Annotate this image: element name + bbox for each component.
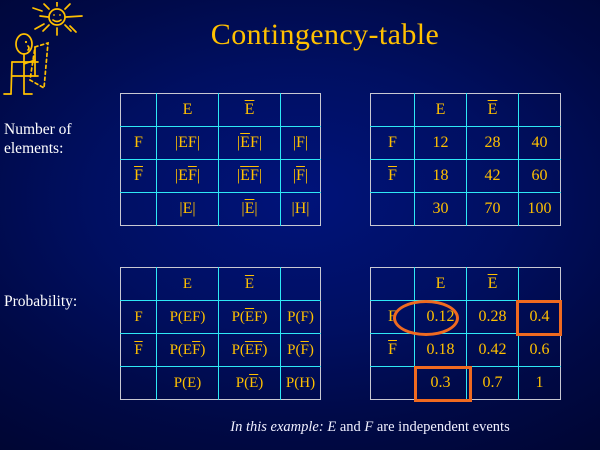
cell-count-ebar-total: 70 [467, 193, 519, 226]
row-label-f-bar: F [371, 334, 415, 367]
row-label-f-bar: F [371, 160, 415, 193]
table-row: F |EF| |EF| |F| [121, 160, 321, 193]
row-label-total [121, 193, 157, 226]
table-row: F |EF| |EF| |F| [121, 127, 321, 160]
cell-prob-f-total: 0.4 [519, 301, 561, 334]
cell-prob-ebar-fbar: 0.42 [467, 334, 519, 367]
cell-p-f: P(F) [281, 301, 321, 334]
cell-prob-fbar-total: 0.6 [519, 334, 561, 367]
table-total-row: P(E) P(E) P(H) [121, 367, 321, 400]
cell-p-ebar: P(E) [219, 367, 281, 400]
person-with-paper-and-sun-icon [2, 2, 106, 96]
column-header-e: E [157, 268, 219, 301]
table-row: F P(EF) P(EF) P(F) [121, 334, 321, 367]
corner-cell [371, 94, 415, 127]
label-probability: Probability: [4, 292, 116, 311]
cell-prob-ebar-f: 0.28 [467, 301, 519, 334]
row-label-f: F [121, 301, 157, 334]
cell-p-ebar-fbar: P(EF) [219, 334, 281, 367]
cell-ebar-total: |E| [219, 193, 281, 226]
cell-prob-e-total: 0.3 [415, 367, 467, 400]
cell-prob-e-fbar: 0.18 [415, 334, 467, 367]
column-header-e: E [415, 94, 467, 127]
table-row: F 12 28 40 [371, 127, 561, 160]
row-label-f: F [371, 127, 415, 160]
row-label-f-bar: F [121, 160, 157, 193]
table-counts-numeric: E E F 12 28 40 F 18 42 60 30 70 100 [370, 93, 561, 226]
cell-count-ebar-fbar: 42 [467, 160, 519, 193]
table-row: F P(EF) P(EF) P(F) [121, 301, 321, 334]
table-header-row: E E [121, 94, 321, 127]
cell-e-fbar: |EF| [157, 160, 219, 193]
cell-grand-total: |H| [281, 193, 321, 226]
cell-f-total: |F| [281, 127, 321, 160]
column-header-total [281, 94, 321, 127]
footnote-tail: are independent events [377, 419, 510, 435]
table-total-row: 30 70 100 [371, 193, 561, 226]
column-header-total [519, 268, 561, 301]
corner-cell [371, 268, 415, 301]
cell-count-f-total: 40 [519, 127, 561, 160]
corner-cell [121, 94, 157, 127]
cell-count-e-total: 30 [415, 193, 467, 226]
cell-count-grand-total: 100 [519, 193, 561, 226]
column-header-e-bar: E [467, 268, 519, 301]
slide-canvas: Contingency-table Number of elements: Pr… [0, 0, 600, 450]
cell-ebar-fbar: |EF| [219, 160, 281, 193]
column-header-e-bar: E [467, 94, 519, 127]
cell-p-e: P(E) [157, 367, 219, 400]
footnote-event-f: F [364, 419, 373, 435]
cell-ef: |EF| [157, 127, 219, 160]
column-header-e: E [415, 268, 467, 301]
cell-count-fbar-total: 60 [519, 160, 561, 193]
table-probability-symbolic: E E F P(EF) P(EF) P(F) F P(EF) P(EF) P(F… [120, 267, 321, 400]
row-label-total [121, 367, 157, 400]
cell-p-ef: P(EF) [157, 301, 219, 334]
table-total-row: |E| |E| |H| [121, 193, 321, 226]
row-label-f: F [371, 301, 415, 334]
column-header-e-bar: E [219, 268, 281, 301]
table-row: F 0.12 0.28 0.4 [371, 301, 561, 334]
table-header-row: E E [371, 268, 561, 301]
cell-fbar-total: |F| [281, 160, 321, 193]
page-title: Contingency-table [110, 18, 540, 52]
column-header-total [281, 268, 321, 301]
cell-p-ebar-f: P(EF) [219, 301, 281, 334]
cell-e-total: |E| [157, 193, 219, 226]
table-counts-symbolic: E E F |EF| |EF| |F| F |EF| |EF| |F| |E| … [120, 93, 321, 226]
table-header-row: E E [121, 268, 321, 301]
table-probability-numeric: E E F 0.12 0.28 0.4 F 0.18 0.42 0.6 0.3 … [370, 267, 561, 400]
cell-prob-ebar-total: 0.7 [467, 367, 519, 400]
footnote-conjunction: and [340, 419, 361, 435]
row-label-total [371, 367, 415, 400]
cell-p-fbar: P(F) [281, 334, 321, 367]
label-number-of-elements: Number of elements: [4, 120, 116, 158]
cell-count-ef: 12 [415, 127, 467, 160]
row-label-total [371, 193, 415, 226]
cell-prob-grand-total: 1 [519, 367, 561, 400]
table-total-row: 0.3 0.7 1 [371, 367, 561, 400]
footnote-lead: In this example: [230, 419, 323, 435]
cell-count-e-fbar: 18 [415, 160, 467, 193]
column-header-e: E [157, 94, 219, 127]
footnote-event-e: E [327, 419, 336, 435]
cell-ebar-f: |EF| [219, 127, 281, 160]
cell-prob-ef: 0.12 [415, 301, 467, 334]
row-label-f-bar: F [121, 334, 157, 367]
column-header-e-bar: E [219, 94, 281, 127]
table-header-row: E E [371, 94, 561, 127]
table-row: F 18 42 60 [371, 160, 561, 193]
table-row: F 0.18 0.42 0.6 [371, 334, 561, 367]
footnote: In this example: E and F are independent… [150, 418, 590, 436]
column-header-total [519, 94, 561, 127]
row-label-f: F [121, 127, 157, 160]
cell-p-h: P(H) [281, 367, 321, 400]
corner-cell [121, 268, 157, 301]
cell-p-e-fbar: P(EF) [157, 334, 219, 367]
cell-count-ebar-f: 28 [467, 127, 519, 160]
